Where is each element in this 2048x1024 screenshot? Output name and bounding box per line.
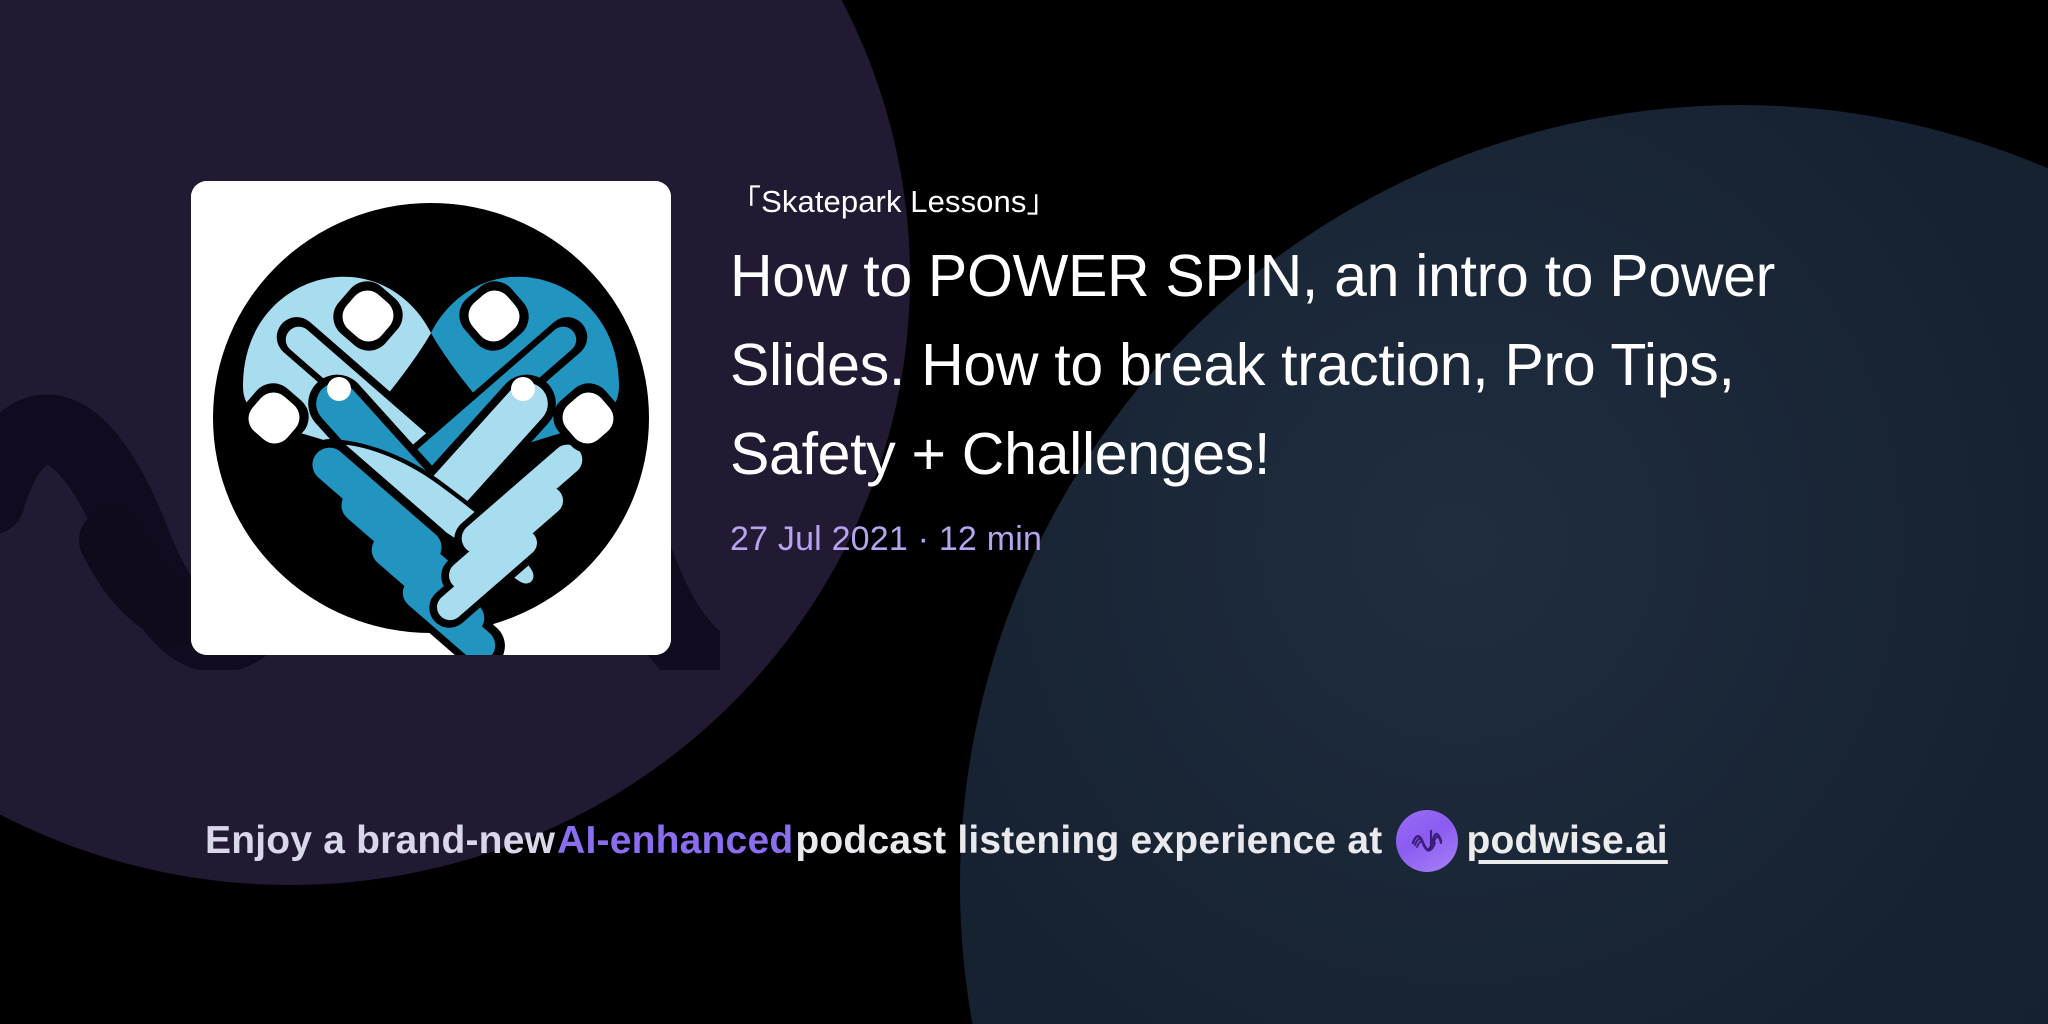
promo-text-part2: podcast listening experience at: [795, 819, 1382, 863]
podcast-episode-card: 「Skatepark Lessons」 How to POWER SPIN, a…: [0, 0, 2048, 1024]
episode-meta: 27 Jul 2021 · 12 min: [730, 517, 1880, 561]
podwise-logo-icon[interactable]: [1396, 810, 1458, 872]
promo-text-accent: AI-enhanced: [555, 819, 795, 863]
promo-banner: Enjoy a brand-new AI-enhanced podcast li…: [205, 812, 1668, 870]
episode-artwork[interactable]: [191, 181, 671, 655]
episode-title[interactable]: How to POWER SPIN, an intro to Power Sli…: [730, 232, 1880, 499]
waveform-glyph-icon: [1407, 821, 1447, 861]
promo-text-part1: Enjoy a brand-new: [205, 819, 555, 863]
episode-text-column: 「Skatepark Lessons」 How to POWER SPIN, a…: [730, 181, 1880, 561]
artwork-illustration: [191, 181, 671, 655]
show-name[interactable]: 「Skatepark Lessons」: [730, 181, 1880, 223]
podwise-link[interactable]: podwise.ai: [1466, 819, 1667, 863]
